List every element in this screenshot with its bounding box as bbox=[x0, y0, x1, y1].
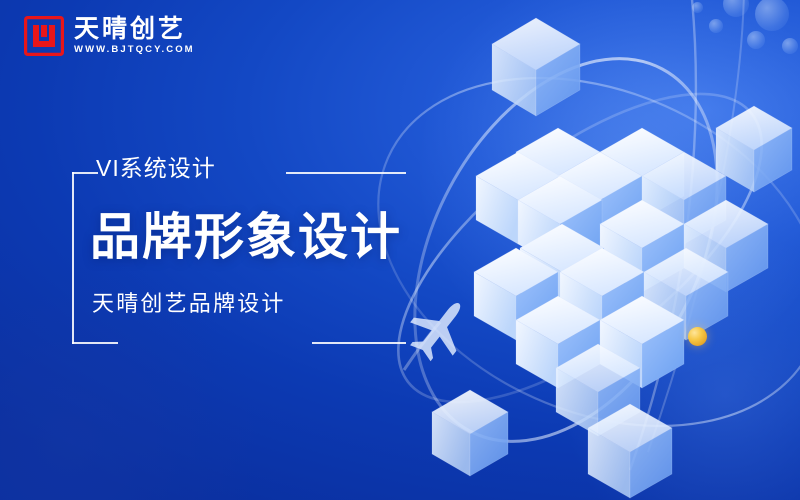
floating-cube-bottom-left bbox=[432, 390, 508, 476]
subtitle-text: 天晴创艺品牌设计 bbox=[92, 293, 286, 315]
tqcy-square-logo-icon bbox=[24, 16, 64, 56]
floating-cube-top bbox=[492, 18, 580, 116]
frame-line-bottom-right bbox=[312, 342, 406, 344]
bokeh-dot bbox=[747, 31, 765, 49]
floating-cube-right bbox=[716, 106, 792, 192]
floating-cube-bottom-right bbox=[588, 404, 672, 498]
airplane-icon bbox=[398, 292, 484, 372]
brand-logo[interactable]: 天晴创艺 WWW.BJTQCY.COM bbox=[24, 16, 195, 56]
page-title: 品牌形象设计 bbox=[90, 208, 402, 266]
background-glow-top bbox=[420, 0, 800, 380]
logo-website: WWW.BJTQCY.COM bbox=[74, 45, 195, 55]
bokeh-dot bbox=[709, 19, 723, 33]
eyebrow-text: VI系统设计 bbox=[96, 157, 216, 180]
promo-banner: 天晴创艺 WWW.BJTQCY.COM VI系统设计 品牌形象设计 天晴创艺品牌… bbox=[0, 0, 800, 500]
bokeh-dot bbox=[692, 2, 703, 13]
logo-text-block: 天晴创艺 WWW.BJTQCY.COM bbox=[74, 17, 195, 55]
orange-sphere bbox=[688, 327, 707, 346]
bokeh-dot bbox=[755, 0, 789, 31]
frame-line-left bbox=[72, 172, 74, 344]
frame-line-top-right bbox=[286, 172, 406, 174]
bokeh-dot bbox=[782, 38, 798, 54]
logo-brand-name: 天晴创艺 bbox=[74, 17, 195, 42]
bokeh-dot bbox=[723, 0, 749, 17]
background-glow-right bbox=[560, 230, 800, 500]
frame-line-bottom bbox=[72, 342, 118, 344]
frame-line-top-left bbox=[72, 172, 98, 174]
